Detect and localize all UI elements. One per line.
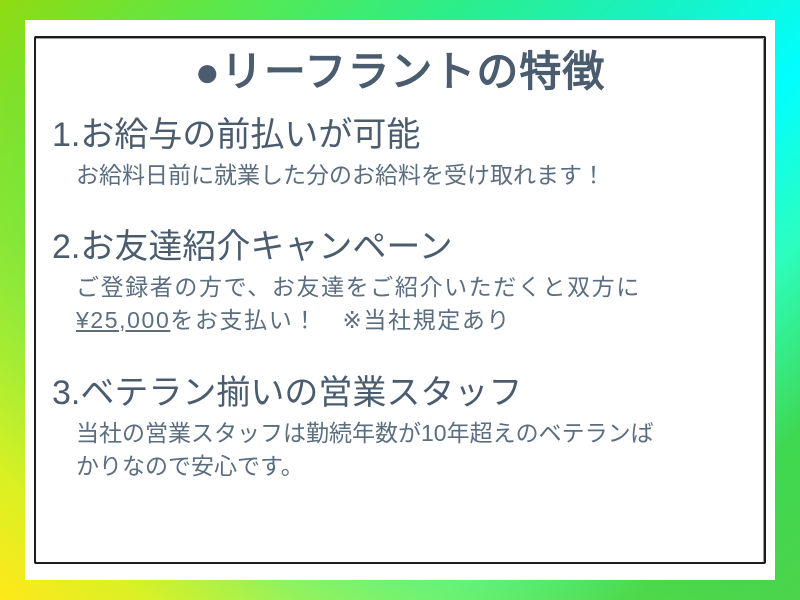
- feature-1-heading: 1.お給与の前払いが可能: [52, 116, 794, 155]
- feature-section-2: 2.お友達紹介キャンペーン ご登録者の方で、お友達をご紹介いただくと双方に ¥2…: [34, 228, 794, 336]
- feature-2-heading: 2.お友達紹介キャンペーン: [52, 228, 794, 267]
- feature-3-body-line-2: かりなので安心です。: [76, 450, 794, 483]
- feature-2-body-line-2: ¥25,000をお支払い！ ※当社規定あり: [76, 304, 794, 337]
- feature-2-body: ご登録者の方で、お友達をご紹介いただくと双方に ¥25,000をお支払い！ ※当…: [76, 271, 794, 336]
- feature-1-body-line-1: お給料日前に就業した分のお給料を受け取れます！: [76, 159, 794, 192]
- feature-3-heading: 3.ベテラン揃いの営業スタッフ: [52, 374, 794, 413]
- feature-2-body-line-1: ご登録者の方で、お友達をご紹介いただくと双方に: [76, 271, 794, 304]
- feature-section-1: 1.お給与の前払いが可能 お給料日前に就業した分のお給料を受け取れます！: [34, 116, 794, 192]
- referral-amount: ¥25,000: [76, 307, 170, 333]
- feature-3-body: 当社の営業スタッフは勤続年数が10年超えのベテランば かりなので安心です。: [76, 417, 794, 482]
- feature-1-body: お給料日前に就業した分のお給料を受け取れます！: [76, 159, 794, 192]
- page-title: ●リーフラントの特徴: [34, 50, 766, 94]
- slide-root: ●リーフラントの特徴 1.お給与の前払いが可能 お給料日前に就業した分のお給料を…: [0, 0, 800, 600]
- slide-content: ●リーフラントの特徴 1.お給与の前払いが可能 お給料日前に就業した分のお給料を…: [34, 36, 794, 564]
- feature-section-3: 3.ベテラン揃いの営業スタッフ 当社の営業スタッフは勤続年数が10年超えのベテラ…: [34, 374, 794, 482]
- feature-2-body-line-2-rest: をお支払い！ ※当社規定あり: [170, 307, 511, 333]
- feature-3-body-line-1: 当社の営業スタッフは勤続年数が10年超えのベテランば: [76, 417, 794, 450]
